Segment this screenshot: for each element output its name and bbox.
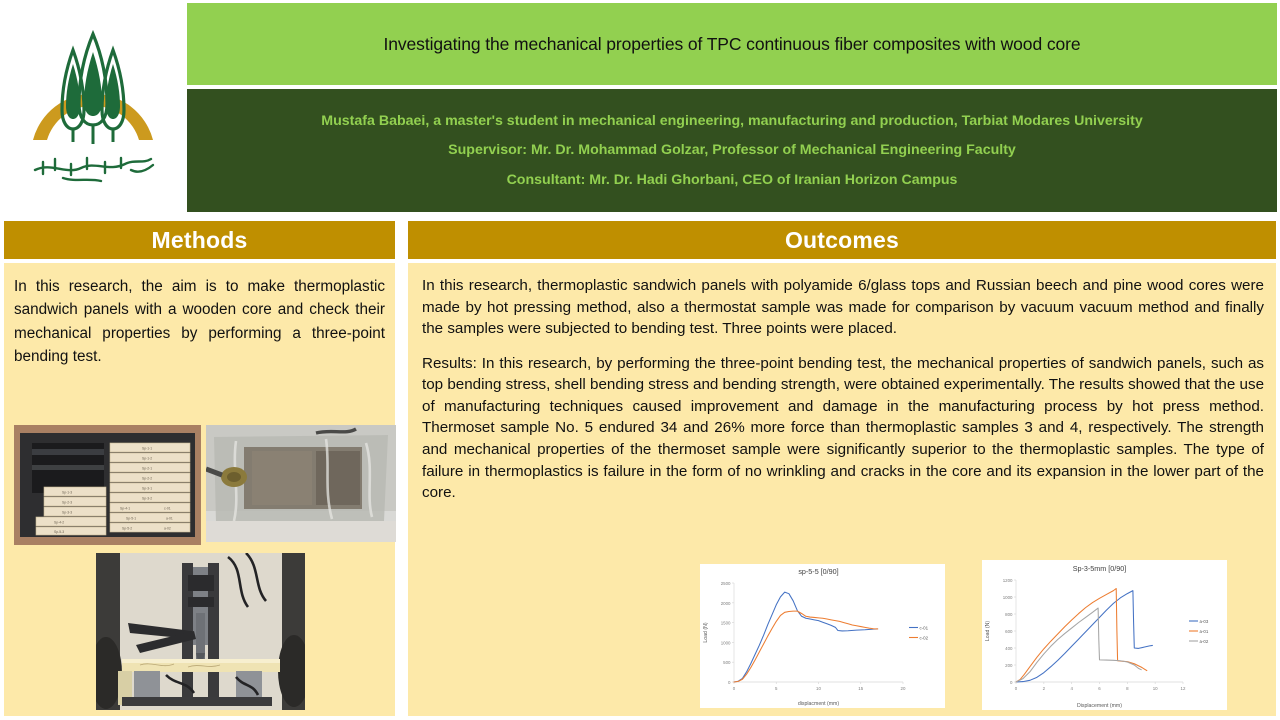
poster-title-bar: Investigating the mechanical properties …: [187, 3, 1277, 85]
chart-sp-5-5: sp-5-5 [0/90]050010001500200025000510152…: [700, 564, 945, 708]
methods-section-header: Methods: [4, 221, 395, 259]
svg-text:Sp-1-3: Sp-1-3: [62, 491, 72, 495]
svg-text:Sp-2-3: Sp-2-3: [62, 501, 72, 505]
svg-text:Sp-2-1: Sp-2-1: [142, 467, 152, 471]
svg-text:Sp-5-1: Sp-5-1: [126, 517, 136, 521]
outcomes-paragraph-2: Results: In this research, by performing…: [422, 353, 1264, 504]
svg-text:1500: 1500: [721, 621, 731, 626]
page-title: Investigating the mechanical properties …: [384, 34, 1081, 55]
svg-text:c-01: c-01: [920, 625, 929, 630]
svg-text:10: 10: [816, 686, 821, 691]
photo-labelled-specimens: Sp-1-1Sp-1-2 Sp-2-1Sp-2-2 Sp-3-1Sp-3-2 S…: [14, 425, 201, 545]
chart-sp-3-5mm: Sp-3-5mm [0/90]0200400600800100012000246…: [982, 560, 1227, 710]
svg-text:Sp-3-5mm [0/90]: Sp-3-5mm [0/90]: [1073, 564, 1127, 573]
svg-text:a-03: a-03: [1200, 619, 1209, 624]
svg-text:600: 600: [1005, 629, 1013, 634]
chart-sp-3-5mm-svg: Sp-3-5mm [0/90]0200400600800100012000246…: [982, 560, 1227, 710]
svg-text:Displacement (mm): Displacement (mm): [1077, 703, 1122, 709]
outcomes-section-header: Outcomes: [408, 221, 1276, 259]
svg-text:displacment (mm): displacment (mm): [798, 701, 839, 707]
svg-text:Sp-4-1: Sp-4-1: [120, 507, 130, 511]
methods-photo-group: Sp-1-1Sp-1-2 Sp-2-1Sp-2-2 Sp-3-1Sp-3-2 S…: [4, 420, 395, 716]
svg-text:Sp-2-2: Sp-2-2: [142, 477, 152, 481]
photo-three-point-bending-machine: [96, 553, 305, 710]
svg-text:1000: 1000: [1003, 595, 1013, 600]
svg-text:10: 10: [1153, 686, 1158, 691]
svg-text:a-02: a-02: [1200, 639, 1209, 644]
consultant-line: Consultant: Mr. Dr. Hadi Ghorbani, CEO o…: [507, 171, 958, 189]
svg-text:Sp-4-2: Sp-4-2: [54, 521, 64, 525]
svg-text:c-01: c-01: [164, 507, 171, 511]
supervisor-line: Supervisor: Mr. Dr. Mohammad Golzar, Pro…: [448, 141, 1016, 159]
photo-vacuum-bagging: [206, 425, 396, 542]
methods-body-text: In this research, the aim is to make the…: [14, 275, 385, 368]
svg-text:1200: 1200: [1003, 578, 1013, 583]
svg-text:Sp-5-2: Sp-5-2: [122, 527, 132, 531]
svg-text:Sp-1-1: Sp-1-1: [142, 447, 152, 451]
svg-text:Sp-3-1: Sp-3-1: [142, 487, 152, 491]
svg-text:sp-5-5 [0/90]: sp-5-5 [0/90]: [798, 567, 838, 576]
svg-text:800: 800: [1005, 612, 1013, 617]
author-line: Mustafa Babaei, a master's student in me…: [321, 112, 1142, 130]
svg-text:200: 200: [1005, 663, 1013, 668]
svg-text:2500: 2500: [721, 581, 731, 586]
svg-text:2000: 2000: [721, 601, 731, 606]
svg-text:Sp-3-3: Sp-3-3: [62, 511, 72, 515]
outcomes-heading-label: Outcomes: [785, 227, 899, 254]
methods-heading-label: Methods: [152, 227, 248, 254]
tarbiat-modares-logo-icon: [13, 12, 173, 202]
svg-text:a-01: a-01: [1200, 629, 1209, 634]
svg-text:400: 400: [1005, 646, 1013, 651]
university-logo: [0, 0, 186, 214]
chart-sp-5-5-svg: sp-5-5 [0/90]050010001500200025000510152…: [700, 564, 945, 708]
outcomes-paragraph-1: In this research, thermoplastic sandwich…: [422, 275, 1264, 340]
svg-text:Load (N): Load (N): [985, 621, 991, 641]
svg-text:c-02: c-02: [920, 635, 929, 640]
svg-text:Load (N): Load (N): [703, 622, 709, 642]
svg-text:15: 15: [858, 686, 863, 691]
svg-text:20: 20: [901, 686, 906, 691]
svg-text:a-01: a-01: [166, 517, 173, 521]
authors-bar: Mustafa Babaei, a master's student in me…: [187, 89, 1277, 212]
svg-text:Sp-3-2: Sp-3-2: [142, 497, 152, 501]
svg-text:1000: 1000: [721, 640, 731, 645]
svg-text:12: 12: [1181, 686, 1186, 691]
svg-text:500: 500: [723, 660, 731, 665]
svg-text:a-02: a-02: [164, 527, 171, 531]
svg-text:Sp-1-2: Sp-1-2: [142, 457, 152, 461]
svg-text:Sp-5-3: Sp-5-3: [54, 530, 64, 534]
poster-root: Investigating the mechanical properties …: [0, 0, 1280, 720]
